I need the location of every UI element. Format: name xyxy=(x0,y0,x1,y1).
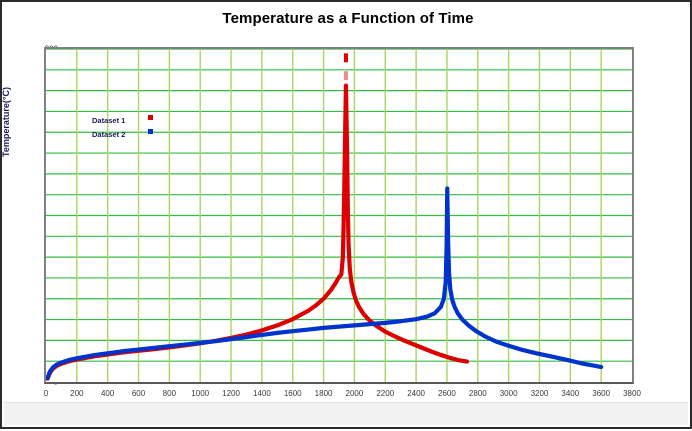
bottom-band xyxy=(4,402,688,425)
x-tick-label: 3800 xyxy=(612,389,652,398)
plot-canvas xyxy=(44,47,634,384)
data-series-layer xyxy=(46,49,632,382)
legend-item-dataset-1[interactable]: Dataset 1 xyxy=(92,110,153,124)
chart-frame: Temperature as a Function of Time Temper… xyxy=(0,0,692,429)
plot-area: Dataset 1 Dataset 2 xyxy=(44,47,634,384)
legend-label-dataset-2: Dataset 2 xyxy=(92,130,144,139)
chart-legend: Dataset 1 Dataset 2 xyxy=(92,110,153,138)
legend-item-dataset-2[interactable]: Dataset 2 xyxy=(92,124,153,138)
y-axis-title: Temperature(°C) xyxy=(1,87,11,157)
chart-title: Temperature as a Function of Time xyxy=(2,10,692,27)
legend-swatch-dataset-2 xyxy=(148,129,153,134)
legend-swatch-dataset-1 xyxy=(148,115,153,120)
